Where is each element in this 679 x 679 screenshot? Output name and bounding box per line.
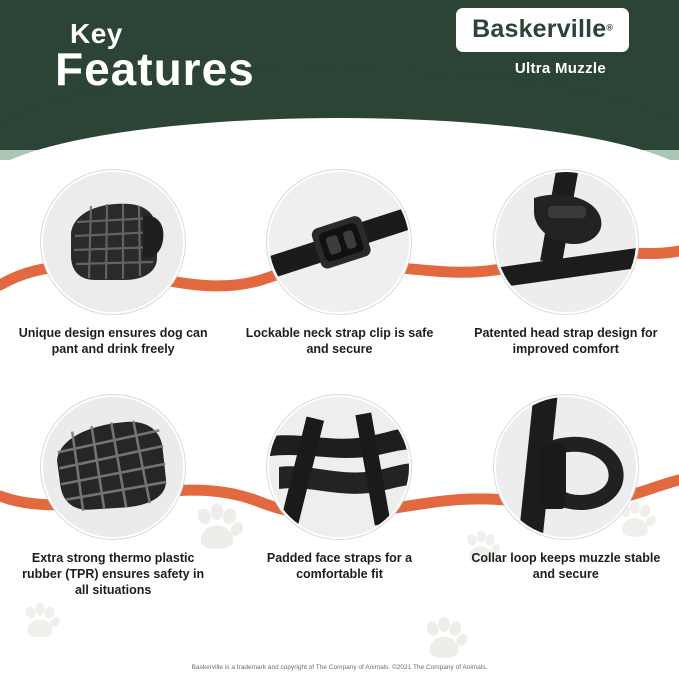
features-grid: Unique design ensures dog can pant and d… [0, 170, 679, 598]
feature-caption-unique-design: Unique design ensures dog can pant and d… [18, 325, 208, 357]
features-row-1: Unique design ensures dog can pant and d… [0, 170, 679, 357]
feature-caption-collar-loop: Collar loop keeps muzzle stable and secu… [471, 550, 661, 582]
registered-mark: ® [606, 23, 613, 33]
feature-card-collar-loop: Collar loop keeps muzzle stable and secu… [461, 395, 671, 598]
paw-watermark [418, 614, 470, 666]
paw-watermark [18, 600, 62, 644]
brand-logo-text: Baskerville [472, 15, 606, 43]
feature-image-lockable-clip [267, 170, 411, 314]
feature-caption-tpr-material: Extra strong thermo plastic rubber (TPR)… [18, 550, 208, 598]
brand-logo: Baskerville® [456, 8, 629, 52]
feature-card-head-strap: Patented head strap design for improved … [461, 170, 671, 357]
feature-card-tpr-material: Extra strong thermo plastic rubber (TPR)… [8, 395, 218, 598]
features-row-2: Extra strong thermo plastic rubber (TPR)… [0, 395, 679, 598]
feature-image-collar-loop [494, 395, 638, 539]
footer-legal: Baskerville is a trademark and copyright… [0, 664, 679, 671]
feature-caption-lockable-clip: Lockable neck strap clip is safe and sec… [244, 325, 434, 357]
feature-image-tpr-material [41, 395, 185, 539]
feature-caption-padded-straps: Padded face straps for a comfortable fit [244, 550, 434, 582]
feature-card-unique-design: Unique design ensures dog can pant and d… [8, 170, 218, 357]
feature-card-lockable-clip: Lockable neck strap clip is safe and sec… [234, 170, 444, 357]
product-name: Ultra Muzzle [515, 60, 606, 77]
page-header: Key Features Baskerville® Ultra Muzzle [0, 0, 679, 160]
feature-image-unique-design [41, 170, 185, 314]
feature-card-padded-straps: Padded face straps for a comfortable fit [234, 395, 444, 598]
feature-caption-head-strap: Patented head strap design for improved … [471, 325, 661, 357]
page-title-features: Features [55, 42, 255, 96]
feature-image-padded-straps [267, 395, 411, 539]
feature-image-head-strap [494, 170, 638, 314]
